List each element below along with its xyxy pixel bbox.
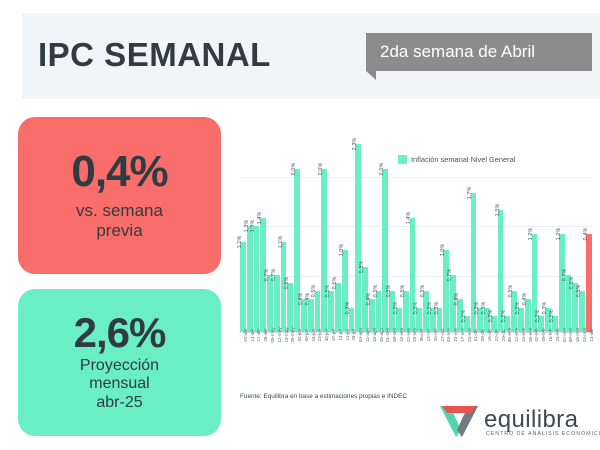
x-tick: 07-jul [328,334,334,368]
bar [355,144,361,332]
x-tick: 12-ene [511,334,517,368]
x-tick: 02-feb [532,334,538,368]
bar-column: 1,2% [559,128,565,332]
bar-value-label: 0,3% [413,301,419,314]
bar-value-label: 0,7% [264,269,270,282]
x-tick: 13-abr [586,334,592,368]
x-tick: 21-jul [342,334,348,368]
bar [342,250,348,332]
bar-value-label: 0,5% [373,285,379,298]
x-tick: 17-nov [457,334,463,368]
bar-column: 0,4% [369,128,375,332]
bar-value-label: 0,6% [284,277,290,290]
bar-value-label: 1,0% [339,244,345,257]
x-tick: 26-ene [525,334,531,368]
bar-column: 1,4% [260,128,266,332]
bar-value-label: 1,1% [278,236,284,249]
bar-value-label: 2,0% [379,162,385,175]
bar-value-label: 1,2% [528,228,534,241]
bar-value-label: 1,5% [495,203,501,216]
bar-column: 0,5% [315,128,321,332]
bar-column: 0,3% [545,128,551,332]
bar-value-label: 0,5% [386,285,392,298]
bar-value-label: 0,3% [474,301,480,314]
x-axis-labels: 07-abr14-abr21-abr28-abr05-may12-may19-m… [240,334,592,368]
legend-swatch-icon [398,155,407,164]
x-tick: 23-jun [315,334,321,368]
bar-column: 0,5% [376,128,382,332]
bar-value-label: 0,2% [549,309,555,322]
bar-value-label: 1,2% [556,228,562,241]
bar-value-label: 0,4% [454,293,460,306]
x-tick: 16-mar [572,334,578,368]
bar-value-label: 1,3% [250,220,256,233]
bar-column: 0,3% [349,128,355,332]
bar-value-label: 0,5% [400,285,406,298]
bar-value-label: 0,3% [434,301,440,314]
weekly-inflation-chart: 1,1%1,3%1,3%1,4%0,7%0,7%1,1%0,6%2,0%0,4%… [238,128,594,360]
bar-value-label: 1,3% [244,220,250,233]
bar-value-label: 0,4% [305,293,311,306]
bar-value-label: 2,0% [291,162,297,175]
bar-column: 0,7% [274,128,280,332]
legend-label: Inflación semanal Nivel General [411,155,515,164]
x-tick: 09-jun [301,334,307,368]
bar-value-label: 1,7% [467,187,473,200]
bar [382,169,388,332]
bar-value-label: 0,3% [542,301,548,314]
x-tick: 27-oct [437,334,443,368]
x-tick: 07-abr [240,334,246,368]
x-tick: 19-ene [518,334,524,368]
bar [410,218,416,332]
x-tick: 22-sep [403,334,409,368]
chart-plot-area: 1,1%1,3%1,3%1,4%0,7%0,7%1,1%0,6%2,0%0,4%… [240,128,592,333]
page-title: IPC SEMANAL [38,36,271,74]
equilibra-logo-mark [440,406,478,437]
bar-value-label: 0,5% [576,285,582,298]
bar-value-label: 1,0% [440,244,446,257]
x-tick: 28-jul [349,334,355,368]
x-tick: 16-jun [308,334,314,368]
bar-column: 1,2% [532,128,538,332]
bar [559,234,565,332]
weekly-card-value: 0,4% [71,150,167,195]
bar-value-label: 2,0% [318,162,324,175]
weekly-card-label: vs. semanaprevia [76,201,163,241]
bar-value-label: 0,5% [508,285,514,298]
bar-value-label: 0,6% [332,277,338,290]
bar-value-label: 0,4% [366,293,372,306]
slide-root: IPC SEMANAL 2da semana de Abril 0,4% vs.… [0,0,600,450]
x-tick: 15-sep [396,334,402,368]
x-tick: 23-mar [579,334,585,368]
bar [294,169,300,332]
bar [321,169,327,332]
bar [274,275,280,332]
x-tick: 13-oct [423,334,429,368]
bar-value-label: 0,5% [420,285,426,298]
bar [287,283,293,332]
x-tick: 22-dic [491,334,497,368]
x-tick: 06-oct [416,334,422,368]
x-tick: 30-jun [321,334,327,368]
x-tick: 09-mar [566,334,572,368]
x-tick: 28-abr [260,334,266,368]
monthly-card: 2,6% Proyecciónmensualabr-25 [18,289,221,436]
bar-value-label: 0,7% [447,269,453,282]
bar [586,234,592,332]
bar-column: 2,0% [321,128,327,332]
bar-value-label: 0,6% [569,277,575,290]
bar-value-label: 0,2% [461,309,467,322]
bar-value-label: 0,2% [501,309,507,322]
x-tick: 05-ene [504,334,510,368]
bar-value-label: 0,8% [359,260,365,273]
x-tick: 26-may [287,334,293,368]
x-tick: 15-dic [484,334,490,368]
x-tick: 25-ago [376,334,382,368]
bar [240,242,246,332]
x-tick: 09-feb [538,334,544,368]
weekly-card: 0,4% vs. semanaprevia [18,117,221,274]
bar [267,275,273,332]
bar [247,226,253,332]
x-tick: 10-nov [450,334,456,368]
x-tick: 01-dic [471,334,477,368]
bar-value-label: 2,3% [352,138,358,151]
bar-value-label: 0,5% [311,285,317,298]
x-tick: 29-sep [410,334,416,368]
bar-value-label: 1,1% [237,236,243,249]
bar-value-label: 0,4% [298,293,304,306]
x-tick: 08-dic [477,334,483,368]
monthly-card-label: Proyecciónmensualabr-25 [80,357,159,414]
bar-value-label: 0,3% [393,301,399,314]
monthly-card-value: 2,6% [74,312,166,355]
bar-value-label: 0,5% [325,285,331,298]
bar-column: 2,0% [382,128,388,332]
logo-wordmark: equilibra [484,406,578,434]
x-tick: 14-abr [247,334,253,368]
x-tick: 18-ago [369,334,375,368]
x-tick: 29-dic [498,334,504,368]
x-tick: 05-may [267,334,273,368]
bar-value-label: 0,3% [427,301,433,314]
x-tick: 20-oct [430,334,436,368]
bar [443,250,449,332]
bar-value-label: 0,4% [583,228,589,241]
bar-column: 0,5% [328,128,334,332]
bar-value-label: 1,4% [406,211,412,224]
x-tick: 11-ago [362,334,368,368]
source-note: Fuente: Equilibra en base a estimaciones… [240,393,407,400]
bar-column: 0,7% [566,128,572,332]
logo-tagline: CENTRO DE ANÁLISIS ECONÓMICO [486,431,600,437]
x-tick: 21-abr [254,334,260,368]
bar-column: 2,3% [355,128,361,332]
bar-value-label: 0,2% [488,309,494,322]
bar-column: 0,7% [267,128,273,332]
bar-value-label: 1,4% [257,211,263,224]
bar-value-label: 0,4% [522,293,528,306]
bar [254,226,260,332]
week-tag: 2da semana de Abril [366,33,592,71]
bar-column: 0,4% [586,128,592,332]
equilibra-logo: equilibra CENTRO DE ANÁLISIS ECONÓMICO [440,404,592,444]
bar-column: 0,4% [308,128,314,332]
x-tick: 02-mar [559,334,565,368]
x-tick: 04-ago [355,334,361,368]
bar-column: 1,1% [281,128,287,332]
bar-column: 0,6% [287,128,293,332]
bar [335,283,341,332]
x-tick: 16-feb [545,334,551,368]
bar-value-label: 0,3% [515,301,521,314]
x-tick: 14-jul [335,334,341,368]
bar-value-label: 0,7% [271,269,277,282]
x-tick: 02-jun [294,334,300,368]
bar-value-label: 0,3% [345,301,351,314]
bar-value-label: 0,7% [562,269,568,282]
x-tick: 12-may [274,334,280,368]
bar-column: 0,6% [572,128,578,332]
x-tick: 23-feb [552,334,558,368]
x-tick: 01-sep [382,334,388,368]
x-tick: 03-nov [443,334,449,368]
bar-value-label: 0,3% [481,301,487,314]
bar-value-label: 0,2% [535,309,541,322]
x-tick: 08-sep [389,334,395,368]
x-tick: 24-nov [464,334,470,368]
chart-legend: Inflación semanal Nivel General [398,155,515,164]
bar-column: 0,6% [335,128,341,332]
bar-column: 1,3% [254,128,260,332]
x-tick: 19-may [281,334,287,368]
